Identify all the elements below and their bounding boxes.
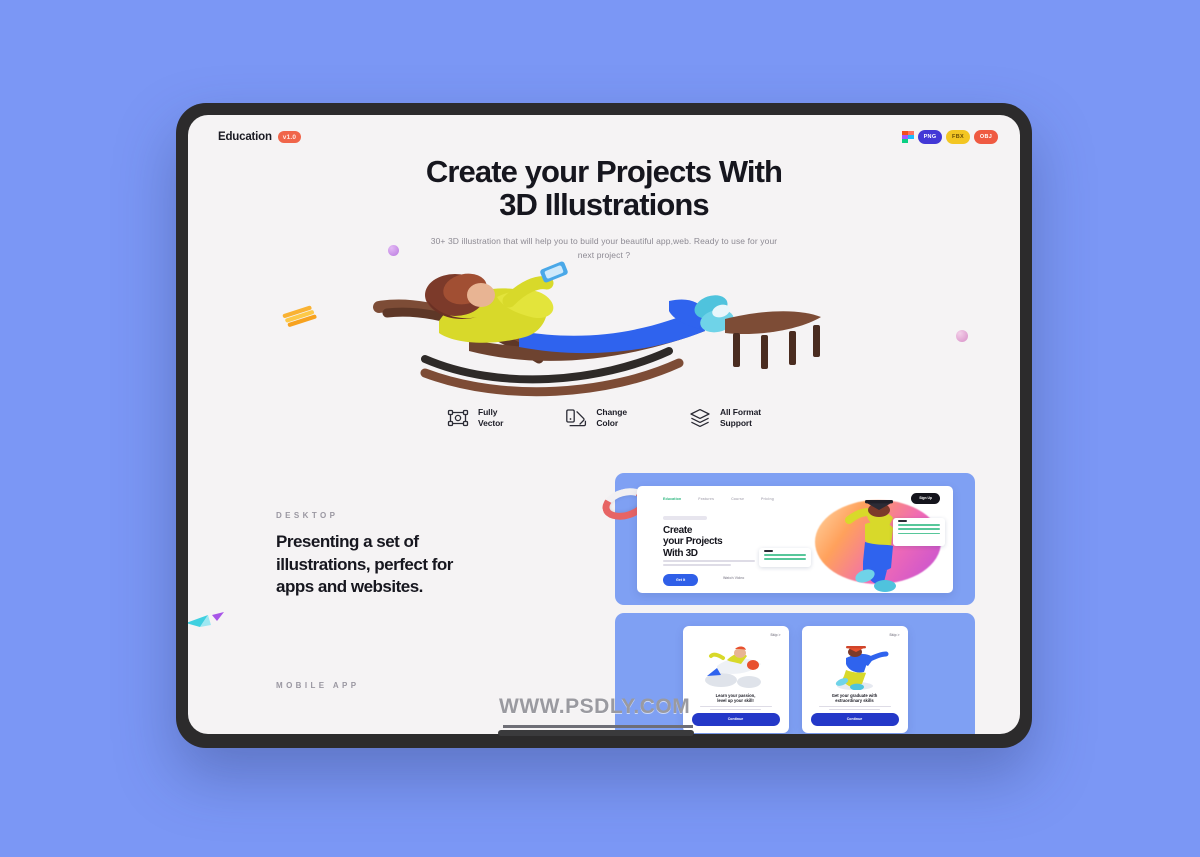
tablet-screen: Education v1.0 PNG FBX OBJ Create your P… bbox=[188, 115, 1020, 734]
obj-badge[interactable]: OBJ bbox=[974, 130, 998, 144]
mockup-nav-brand[interactable]: Education bbox=[663, 497, 681, 501]
mockup-heading-line-1: Create bbox=[663, 525, 692, 536]
watermark-underline bbox=[503, 725, 693, 728]
mockup-skip-link[interactable]: Skip > bbox=[770, 633, 780, 637]
mobile-app-mockup-1: Skip > bbox=[683, 626, 789, 733]
mockup-nav-item-pricing[interactable]: Pricing bbox=[761, 497, 774, 501]
desktop-copy-block: DESKTOP Presenting a set of illustration… bbox=[276, 511, 566, 599]
mockup-heading: Create your Projects With 3D bbox=[663, 525, 722, 560]
mockup-skip-link[interactable]: Skip > bbox=[889, 633, 899, 637]
desktop-website-mockup: Education Features Course Pricing Sign U… bbox=[637, 486, 953, 593]
mockup-navbar: Education Features Course Pricing bbox=[663, 497, 774, 501]
mockup-nav-item-features[interactable]: Features bbox=[698, 497, 714, 501]
page-title-line-1: Create your Projects With bbox=[426, 154, 782, 189]
feature-label: Fully Vector bbox=[478, 407, 503, 430]
graduate-illustration bbox=[802, 642, 908, 690]
feature-fully-vector: Fully Vector bbox=[447, 407, 503, 430]
brand-name: Education bbox=[218, 131, 272, 143]
feature-label: All Format Support bbox=[720, 407, 761, 430]
section-heading: Presenting a set of illustrations, perfe… bbox=[276, 531, 566, 599]
feature-line-2: Vector bbox=[478, 418, 503, 428]
eyebrow-desktop: DESKTOP bbox=[276, 511, 566, 520]
feature-line-1: All Format bbox=[720, 407, 761, 417]
mockup-subtext-placeholder bbox=[663, 560, 755, 569]
layers-icon bbox=[689, 407, 711, 429]
figma-icon bbox=[902, 131, 914, 144]
brand-logo[interactable]: Education v1.0 bbox=[218, 131, 301, 143]
mockup-floating-card-2 bbox=[759, 548, 811, 567]
mockup-secondary-link[interactable]: Watch Video bbox=[723, 576, 744, 580]
fbx-badge[interactable]: FBX bbox=[946, 130, 970, 144]
color-swatch-icon bbox=[565, 407, 587, 429]
png-badge[interactable]: PNG bbox=[918, 130, 942, 144]
mockup-heading-line-3: With 3D bbox=[663, 548, 698, 559]
mockup-subtext-placeholder bbox=[700, 706, 772, 713]
feature-label: Change Color bbox=[596, 407, 627, 430]
feature-line-2: Support bbox=[720, 418, 752, 428]
feature-all-format-support: All Format Support bbox=[689, 407, 761, 430]
feature-line-2: Color bbox=[596, 418, 618, 428]
vector-nodes-icon bbox=[447, 407, 469, 429]
lower-section: DESKTOP Presenting a set of illustration… bbox=[188, 463, 1020, 723]
mockup-caption-line-1: Get your graduate with bbox=[832, 693, 878, 698]
section-heading-line-3: apps and websites. bbox=[276, 577, 423, 596]
format-badge-list: PNG FBX OBJ bbox=[901, 130, 998, 144]
mockup-caption-line-2: level up your skill! bbox=[717, 698, 754, 703]
page-title: Create your Projects With 3D Illustratio… bbox=[188, 155, 1020, 222]
hero-section: Create your Projects With 3D Illustratio… bbox=[188, 155, 1020, 262]
mockup-continue-button[interactable]: Continue bbox=[811, 713, 899, 726]
tablet-stand bbox=[498, 730, 694, 736]
section-heading-line-1: Presenting a set of bbox=[276, 532, 419, 551]
rocket-illustration bbox=[683, 642, 789, 690]
mockup-tag-placeholder bbox=[663, 516, 707, 520]
watermark-text: WWW.PSDLY.COM bbox=[499, 695, 690, 719]
tablet-device-frame: Education v1.0 PNG FBX OBJ Create your P… bbox=[176, 103, 1032, 748]
section-heading-line-2: illustrations, perfect for bbox=[276, 555, 453, 574]
mockup-caption-line-2: extraordinary skills bbox=[835, 698, 873, 703]
mockup-caption: Get your graduate with extraordinary ski… bbox=[812, 693, 898, 705]
feature-change-color: Change Color bbox=[565, 407, 627, 430]
eyebrow-mobile-app: MOBILE APP bbox=[276, 681, 359, 690]
desktop-showcase-card[interactable]: Education Features Course Pricing Sign U… bbox=[615, 473, 975, 605]
feature-list: Fully Vector Change Color bbox=[188, 407, 1020, 430]
mockup-nav-item-course[interactable]: Course bbox=[731, 497, 744, 501]
version-badge: v1.0 bbox=[278, 131, 301, 143]
top-bar: Education v1.0 PNG FBX OBJ bbox=[188, 115, 1020, 159]
figma-badge[interactable] bbox=[901, 130, 914, 144]
mockup-caption-line-1: Learn your passion, bbox=[716, 693, 756, 698]
mockup-floating-card-1 bbox=[893, 518, 945, 546]
mobile-app-mockup-2: Skip > bbox=[802, 626, 908, 733]
mockup-heading-line-2: your Projects bbox=[663, 536, 722, 547]
mockup-caption: Learn your passion, level up your skill! bbox=[693, 693, 779, 705]
page-title-line-2: 3D Illustrations bbox=[499, 187, 709, 222]
hero-illustration bbox=[188, 247, 1020, 397]
feature-line-1: Change bbox=[596, 407, 627, 417]
mockup-signup-button[interactable]: Sign Up bbox=[911, 493, 940, 504]
mockup-subtext-placeholder bbox=[819, 706, 891, 713]
feature-line-1: Fully bbox=[478, 407, 497, 417]
mockup-continue-button[interactable]: Continue bbox=[692, 713, 780, 726]
mockup-primary-button[interactable]: Get It bbox=[663, 574, 698, 586]
